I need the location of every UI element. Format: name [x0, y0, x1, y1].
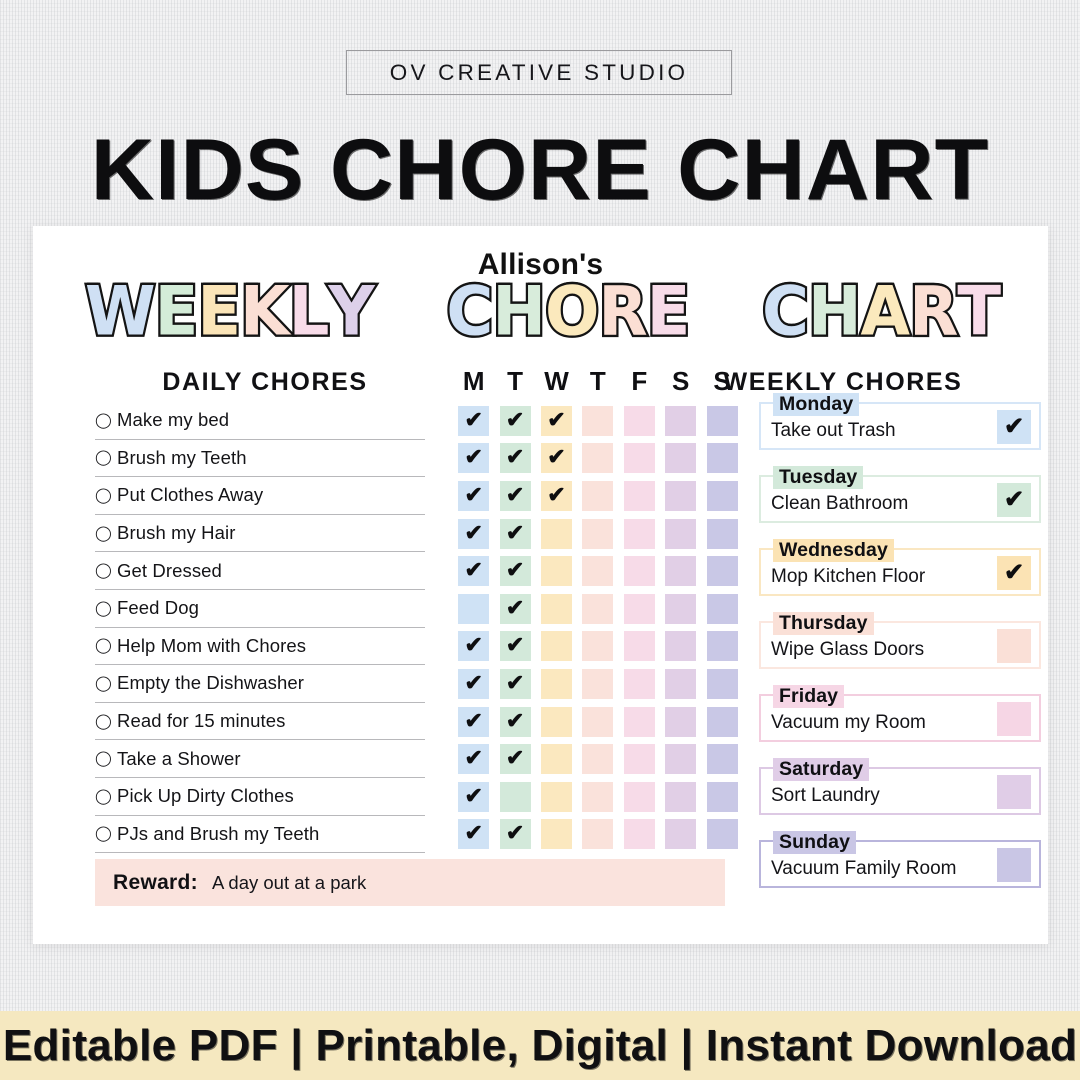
bubble-letter: H: [808, 272, 861, 353]
bubble-letter: W: [85, 272, 155, 353]
grid-cell[interactable]: [536, 519, 577, 549]
checkbox-empty[interactable]: [707, 594, 738, 624]
grid-cell[interactable]: [577, 594, 618, 624]
checkbox-empty[interactable]: [707, 819, 738, 849]
checkbox-empty[interactable]: [707, 669, 738, 699]
daily-chore-label: Pick Up Dirty Clothes: [117, 785, 294, 807]
grid-cell[interactable]: [494, 782, 535, 812]
grid-row: ✔✔: [453, 740, 743, 778]
screenshot-root: OV CREATIVE STUDIO KIDS CHORE CHART Alli…: [0, 0, 1080, 1080]
checkbox-empty[interactable]: [541, 556, 572, 586]
brand-name: OV CREATIVE STUDIO: [390, 60, 688, 86]
weekly-task-label[interactable]: Clean Bathroom: [771, 493, 908, 515]
bubble-letter: C: [446, 272, 492, 353]
checkbox-empty[interactable]: [582, 744, 613, 774]
daily-chore-row[interactable]: ◯Get Dressed: [95, 552, 425, 590]
check-icon: ✔: [464, 446, 482, 468]
grid-cell[interactable]: [660, 782, 701, 812]
grid-cell[interactable]: [701, 556, 742, 586]
circle-outline-icon[interactable]: ◯: [95, 826, 117, 841]
check-icon: ✔: [464, 672, 482, 694]
checkbox-empty[interactable]: [665, 481, 696, 511]
grid-cell[interactable]: [660, 519, 701, 549]
grid-cell[interactable]: [536, 744, 577, 774]
checkbox-empty[interactable]: [582, 819, 613, 849]
grid-row: ✔: [453, 590, 743, 628]
grid-cell[interactable]: [619, 556, 660, 586]
grid-cell[interactable]: [619, 669, 660, 699]
bubble-letter: R: [598, 272, 646, 353]
bubble-word: CHORE: [446, 274, 689, 350]
grid-cell[interactable]: [577, 707, 618, 737]
grid-cell[interactable]: [577, 631, 618, 661]
grid-cell[interactable]: ✔: [453, 744, 494, 774]
daily-chore-row[interactable]: ◯Feed Dog: [95, 590, 425, 628]
check-icon: ✔: [547, 484, 565, 506]
checkbox-empty[interactable]: [707, 519, 738, 549]
checkbox-empty[interactable]: [707, 631, 738, 661]
circle-outline-icon[interactable]: ◯: [95, 413, 117, 428]
grid-cell[interactable]: [660, 481, 701, 511]
checkbox-checked[interactable]: ✔: [500, 631, 531, 661]
grid-row: ✔✔: [453, 515, 743, 553]
weekly-chore-item[interactable]: SaturdaySort Laundry: [759, 767, 1041, 815]
checkbox-checked[interactable]: ✔: [458, 744, 489, 774]
grid-cell[interactable]: ✔: [494, 707, 535, 737]
grid-cell[interactable]: [701, 481, 742, 511]
grid-row: ✔✔✔: [453, 477, 743, 515]
grid-cell[interactable]: [619, 744, 660, 774]
checkbox-empty[interactable]: [541, 594, 572, 624]
grid-cell[interactable]: ✔: [494, 481, 535, 511]
circle-outline-icon[interactable]: ◯: [95, 751, 117, 766]
checkbox-checked[interactable]: ✔: [500, 443, 531, 473]
checkbox-empty[interactable]: [582, 707, 613, 737]
check-icon: ✔: [464, 559, 482, 581]
checkbox-checked[interactable]: ✔: [500, 481, 531, 511]
daily-chore-label: Help Mom with Chores: [117, 635, 306, 657]
weekly-chore-item[interactable]: ThursdayWipe Glass Doors: [759, 621, 1041, 669]
grid-cell[interactable]: ✔: [494, 406, 535, 436]
check-icon: ✔: [464, 822, 482, 844]
checkbox-empty[interactable]: [665, 631, 696, 661]
weekly-task-label[interactable]: Take out Trash: [771, 420, 896, 442]
circle-outline-icon[interactable]: ◯: [95, 676, 117, 691]
checkbox-empty[interactable]: [624, 443, 655, 473]
checkbox-empty[interactable]: [582, 594, 613, 624]
checkbox-empty[interactable]: [707, 707, 738, 737]
daily-chore-row[interactable]: ◯Brush my Hair: [95, 515, 425, 553]
footer-text: Editable PDF | Printable, Digital | Inst…: [3, 1021, 1077, 1071]
grid-cell[interactable]: [701, 519, 742, 549]
bubble-letter: C: [762, 272, 808, 353]
check-icon: ✔: [1004, 488, 1024, 512]
weekly-checkbox-checked[interactable]: ✔: [997, 410, 1031, 444]
grid-cell[interactable]: [536, 782, 577, 812]
checkbox-checked[interactable]: ✔: [458, 443, 489, 473]
bubble-word: CHART: [762, 274, 1000, 350]
grid-cell[interactable]: [619, 707, 660, 737]
day-header: M: [453, 366, 494, 397]
reward-bar: Reward: A day out at a park: [95, 859, 725, 906]
checkbox-empty[interactable]: [624, 556, 655, 586]
grid-cell[interactable]: [701, 631, 742, 661]
daily-chore-row[interactable]: ◯Help Mom with Chores: [95, 628, 425, 666]
checkbox-empty[interactable]: [665, 519, 696, 549]
grid-cell[interactable]: [701, 594, 742, 624]
check-icon: ✔: [506, 822, 524, 844]
weekly-task-label[interactable]: Wipe Glass Doors: [771, 639, 924, 661]
grid-cell[interactable]: [660, 744, 701, 774]
grid-cell[interactable]: [701, 406, 742, 436]
grid-cell[interactable]: [660, 707, 701, 737]
weekly-day-tag: Wednesday: [773, 539, 894, 562]
checkbox-empty[interactable]: [707, 556, 738, 586]
grid-cell[interactable]: [536, 556, 577, 586]
checkbox-checked[interactable]: ✔: [541, 406, 572, 436]
checkbox-empty[interactable]: [582, 556, 613, 586]
grid-cell[interactable]: [577, 556, 618, 586]
grid-cell[interactable]: [701, 443, 742, 473]
weekly-checkbox-empty[interactable]: [997, 775, 1031, 809]
check-icon: ✔: [506, 747, 524, 769]
daily-chores-heading: DAILY CHORES: [95, 368, 435, 397]
day-header: T: [577, 366, 618, 397]
grid-cell[interactable]: ✔: [536, 481, 577, 511]
checkbox-checked[interactable]: ✔: [500, 819, 531, 849]
checkbox-empty[interactable]: [582, 669, 613, 699]
daily-chore-label: Read for 15 minutes: [117, 710, 286, 732]
grid-cell[interactable]: ✔: [494, 594, 535, 624]
check-icon: ✔: [506, 559, 524, 581]
grid-cell[interactable]: [577, 406, 618, 436]
weekly-chore-item[interactable]: SundayVacuum Family Room: [759, 840, 1041, 888]
daily-chore-row[interactable]: ◯Brush my Teeth: [95, 440, 425, 478]
checkbox-empty[interactable]: [541, 631, 572, 661]
check-icon: ✔: [506, 634, 524, 656]
checkbox-empty[interactable]: [624, 519, 655, 549]
grid-cell[interactable]: [701, 707, 742, 737]
check-icon: ✔: [547, 409, 565, 431]
circle-outline-icon[interactable]: ◯: [95, 601, 117, 616]
bubble-letter: E: [197, 272, 240, 353]
checkbox-empty[interactable]: [624, 669, 655, 699]
grid-cell[interactable]: [701, 782, 742, 812]
grid-cell[interactable]: [619, 443, 660, 473]
checkbox-empty[interactable]: [665, 594, 696, 624]
grid-cell[interactable]: [577, 519, 618, 549]
grid-cell[interactable]: ✔: [494, 744, 535, 774]
circle-outline-icon[interactable]: ◯: [95, 714, 117, 729]
checkbox-empty[interactable]: [707, 406, 738, 436]
grid-cell[interactable]: [660, 443, 701, 473]
checkbox-empty[interactable]: [582, 782, 613, 812]
weekly-task-label[interactable]: Mop Kitchen Floor: [771, 566, 925, 588]
daily-chore-row[interactable]: ◯Empty the Dishwasher: [95, 665, 425, 703]
grid-cell[interactable]: ✔: [453, 782, 494, 812]
daily-chore-row[interactable]: ◯PJs and Brush my Teeth: [95, 816, 425, 854]
day-header: S: [660, 366, 701, 397]
brand-plate: OV CREATIVE STUDIO: [346, 50, 732, 95]
bubble-letter: R: [909, 272, 957, 353]
grid-cell[interactable]: [660, 594, 701, 624]
daily-chore-label: Take a Shower: [117, 748, 241, 770]
checkbox-empty[interactable]: [665, 782, 696, 812]
grid-cell[interactable]: ✔: [453, 406, 494, 436]
bubble-letter: A: [861, 272, 910, 353]
grid-cell[interactable]: ✔: [494, 819, 535, 849]
grid-cell[interactable]: [536, 594, 577, 624]
checkbox-empty[interactable]: [707, 782, 738, 812]
reward-label: Reward:: [113, 871, 198, 895]
grid-cell[interactable]: [660, 631, 701, 661]
weekly-checkbox-empty[interactable]: [997, 848, 1031, 882]
grid-cell[interactable]: [577, 481, 618, 511]
checkbox-checked[interactable]: ✔: [500, 556, 531, 586]
check-icon: ✔: [547, 446, 565, 468]
grid-cell[interactable]: ✔: [453, 707, 494, 737]
check-icon: ✔: [464, 484, 482, 506]
grid-cell[interactable]: [577, 819, 618, 849]
circle-outline-icon[interactable]: ◯: [95, 563, 117, 578]
daily-chores-list: ◯Make my bed◯Brush my Teeth◯Put Clothes …: [95, 402, 425, 853]
weekly-chore-item[interactable]: WednesdayMop Kitchen Floor✔: [759, 548, 1041, 596]
check-icon: ✔: [464, 710, 482, 732]
checkbox-empty[interactable]: [500, 782, 531, 812]
weekly-chore-item[interactable]: TuesdayClean Bathroom✔: [759, 475, 1041, 523]
chore-chart-card: Allison's WEEKLYCHORECHART DAILY CHORES …: [33, 226, 1048, 944]
checkbox-empty[interactable]: [582, 519, 613, 549]
check-icon: ✔: [506, 597, 524, 619]
checkbox-empty[interactable]: [665, 443, 696, 473]
checkbox-checked[interactable]: ✔: [500, 406, 531, 436]
grid-cell[interactable]: ✔: [453, 819, 494, 849]
circle-outline-icon[interactable]: ◯: [95, 526, 117, 541]
grid-cell[interactable]: ✔: [494, 556, 535, 586]
reward-value[interactable]: A day out at a park: [212, 872, 366, 894]
grid-cell[interactable]: [619, 481, 660, 511]
checkbox-checked[interactable]: ✔: [500, 744, 531, 774]
checkbox-checked[interactable]: ✔: [458, 819, 489, 849]
grid-cell[interactable]: ✔: [494, 669, 535, 699]
checkbox-empty[interactable]: [582, 481, 613, 511]
grid-cell[interactable]: [619, 782, 660, 812]
grid-cell[interactable]: ✔: [494, 519, 535, 549]
grid-cell[interactable]: ✔: [453, 556, 494, 586]
check-icon: ✔: [1004, 561, 1024, 585]
bubble-letter: O: [545, 272, 598, 353]
day-header: T: [494, 366, 535, 397]
checkbox-empty[interactable]: [582, 443, 613, 473]
checkbox-empty[interactable]: [665, 556, 696, 586]
bubble-letter: L: [289, 272, 329, 353]
daily-chore-label: Brush my Teeth: [117, 447, 247, 469]
circle-outline-icon[interactable]: ◯: [95, 789, 117, 804]
grid-cell[interactable]: [619, 406, 660, 436]
grid-cell[interactable]: ✔: [453, 443, 494, 473]
grid-cell[interactable]: [619, 519, 660, 549]
checkbox-empty[interactable]: [541, 669, 572, 699]
checkbox-empty[interactable]: [624, 406, 655, 436]
checkbox-empty[interactable]: [624, 594, 655, 624]
checkbox-empty[interactable]: [707, 481, 738, 511]
checkbox-checked[interactable]: ✔: [458, 556, 489, 586]
check-icon: ✔: [464, 634, 482, 656]
bubble-letter: Y: [328, 272, 373, 353]
daily-chore-row[interactable]: ◯Take a Shower: [95, 740, 425, 778]
checkbox-empty[interactable]: [582, 631, 613, 661]
day-header-row: MTWTFSS: [453, 366, 743, 397]
grid-row: ✔✔: [453, 552, 743, 590]
daily-chore-label: Empty the Dishwasher: [117, 672, 304, 694]
check-icon: ✔: [464, 785, 482, 807]
checkbox-checked[interactable]: ✔: [500, 669, 531, 699]
checkbox-empty[interactable]: [458, 594, 489, 624]
checkbox-empty[interactable]: [707, 744, 738, 774]
daily-chore-row[interactable]: ◯Pick Up Dirty Clothes: [95, 778, 425, 816]
checkbox-empty[interactable]: [707, 443, 738, 473]
checkbox-checked[interactable]: ✔: [541, 443, 572, 473]
grid-cell[interactable]: [619, 631, 660, 661]
weekly-checkbox-empty[interactable]: [997, 629, 1031, 663]
grid-cell[interactable]: ✔: [536, 443, 577, 473]
grid-cell[interactable]: ✔: [453, 481, 494, 511]
grid-cell[interactable]: [536, 669, 577, 699]
checkbox-empty[interactable]: [624, 782, 655, 812]
checkbox-checked[interactable]: ✔: [541, 481, 572, 511]
weekly-task-label[interactable]: Vacuum my Room: [771, 712, 926, 734]
checkbox-checked[interactable]: ✔: [500, 519, 531, 549]
weekly-checkbox-checked[interactable]: ✔: [997, 483, 1031, 517]
checkbox-empty[interactable]: [541, 519, 572, 549]
weekly-day-tag: Monday: [773, 393, 859, 416]
daily-chore-label: Make my bed: [117, 409, 229, 431]
daily-chore-label: Brush my Hair: [117, 522, 236, 544]
grid-cell[interactable]: [536, 707, 577, 737]
checkbox-empty[interactable]: [624, 819, 655, 849]
checkbox-empty[interactable]: [541, 707, 572, 737]
grid-cell[interactable]: [577, 443, 618, 473]
check-icon: ✔: [506, 710, 524, 732]
grid-cell[interactable]: ✔: [453, 631, 494, 661]
weekly-task-label[interactable]: Vacuum Family Room: [771, 858, 956, 880]
checkbox-empty[interactable]: [665, 819, 696, 849]
weekly-day-tag: Tuesday: [773, 466, 863, 489]
checkbox-empty[interactable]: [665, 669, 696, 699]
page-title: KIDS CHORE CHART: [0, 124, 1080, 216]
grid-cell[interactable]: [660, 669, 701, 699]
grid-cell[interactable]: ✔: [536, 406, 577, 436]
checkbox-checked[interactable]: ✔: [458, 707, 489, 737]
checkbox-empty[interactable]: [624, 631, 655, 661]
grid-row: ✔✔: [453, 703, 743, 741]
day-header: W: [536, 366, 577, 397]
checkbox-empty[interactable]: [624, 707, 655, 737]
weekly-day-tag: Thursday: [773, 612, 874, 635]
grid-cell[interactable]: [619, 594, 660, 624]
bubble-title: WEEKLYCHORECHART: [85, 274, 1000, 360]
grid-cell[interactable]: ✔: [494, 443, 535, 473]
weekly-day-tag: Saturday: [773, 758, 869, 781]
grid-cell[interactable]: [701, 744, 742, 774]
checkbox-checked[interactable]: ✔: [458, 406, 489, 436]
checkbox-checked[interactable]: ✔: [458, 669, 489, 699]
grid-row: ✔✔✔: [453, 402, 743, 440]
grid-cell[interactable]: [577, 669, 618, 699]
bubble-letter: E: [155, 272, 198, 353]
grid-cell[interactable]: [701, 819, 742, 849]
grid-cell[interactable]: [660, 406, 701, 436]
grid-cell[interactable]: [453, 594, 494, 624]
daily-chore-row[interactable]: ◯Make my bed: [95, 402, 425, 440]
grid-cell[interactable]: [536, 819, 577, 849]
weekly-task-label[interactable]: Sort Laundry: [771, 785, 880, 807]
checkbox-empty[interactable]: [665, 406, 696, 436]
checkbox-empty[interactable]: [665, 707, 696, 737]
grid-cell[interactable]: ✔: [453, 519, 494, 549]
bubble-letter: H: [492, 272, 545, 353]
grid-cell[interactable]: [577, 782, 618, 812]
weekly-day-tag: Sunday: [773, 831, 856, 854]
check-icon: ✔: [464, 409, 482, 431]
weekly-chore-item[interactable]: MondayTake out Trash✔: [759, 402, 1041, 450]
checkbox-checked[interactable]: ✔: [458, 631, 489, 661]
grid-row: ✔✔✔: [453, 440, 743, 478]
grid-cell[interactable]: ✔: [453, 669, 494, 699]
weekly-checkbox-empty[interactable]: [997, 702, 1031, 736]
bubble-letter: E: [647, 272, 690, 353]
checkbox-checked[interactable]: ✔: [500, 594, 531, 624]
weekly-chore-item[interactable]: FridayVacuum my Room: [759, 694, 1041, 742]
checkbox-empty[interactable]: [541, 782, 572, 812]
checkbox-empty[interactable]: [541, 819, 572, 849]
grid-row: ✔: [453, 778, 743, 816]
weekly-chores-list: MondayTake out Trash✔TuesdayClean Bathro…: [759, 402, 1041, 913]
daily-chore-row[interactable]: ◯Read for 15 minutes: [95, 703, 425, 741]
checkbox-checked[interactable]: ✔: [458, 519, 489, 549]
grid-cell[interactable]: [577, 744, 618, 774]
check-icon: ✔: [506, 484, 524, 506]
grid-cell[interactable]: [536, 631, 577, 661]
footer-banner: Editable PDF | Printable, Digital | Inst…: [0, 1011, 1080, 1080]
grid-row: ✔✔: [453, 816, 743, 854]
circle-outline-icon[interactable]: ◯: [95, 450, 117, 465]
day-header: S: [701, 366, 742, 397]
checkbox-empty[interactable]: [624, 744, 655, 774]
grid-cell[interactable]: [619, 819, 660, 849]
circle-outline-icon[interactable]: ◯: [95, 488, 117, 503]
checkbox-empty[interactable]: [624, 481, 655, 511]
grid-cell[interactable]: [660, 556, 701, 586]
circle-outline-icon[interactable]: ◯: [95, 638, 117, 653]
grid-row: ✔✔: [453, 665, 743, 703]
checkbox-empty[interactable]: [665, 744, 696, 774]
daily-chore-row[interactable]: ◯Put Clothes Away: [95, 477, 425, 515]
check-icon: ✔: [506, 409, 524, 431]
grid-cell[interactable]: [701, 669, 742, 699]
bubble-letter: K: [240, 272, 289, 353]
weekly-checkbox-checked[interactable]: ✔: [997, 556, 1031, 590]
checkbox-empty[interactable]: [582, 406, 613, 436]
checkbox-checked[interactable]: ✔: [458, 481, 489, 511]
checkbox-empty[interactable]: [541, 744, 572, 774]
checkbox-grid: ✔✔✔✔✔✔✔✔✔✔✔✔✔✔✔✔✔✔✔✔✔✔✔✔✔: [453, 402, 743, 853]
grid-cell[interactable]: ✔: [494, 631, 535, 661]
grid-cell[interactable]: [660, 819, 701, 849]
checkbox-checked[interactable]: ✔: [458, 782, 489, 812]
daily-chore-label: Get Dressed: [117, 560, 222, 582]
checkbox-checked[interactable]: ✔: [500, 707, 531, 737]
